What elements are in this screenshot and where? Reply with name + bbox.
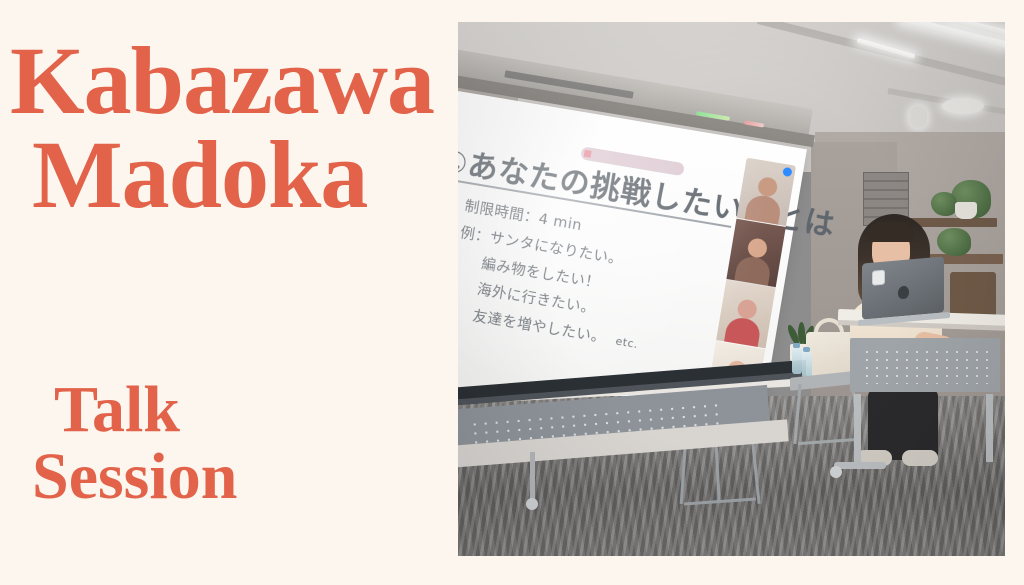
- participant-head: [757, 176, 779, 198]
- laptop-lid: [862, 256, 944, 319]
- conference-room-photo: ①あなたの挑戦したいことは 制限時間：4 min 例：サンタになりたい。 編み物…: [458, 22, 1005, 556]
- track-light-disc: [942, 98, 984, 114]
- water-bottle-2: [802, 352, 812, 378]
- foreground-desk-caster: [526, 498, 538, 510]
- presenter-bangs: [868, 222, 914, 242]
- session-subtitle-block: Talk Session: [10, 376, 450, 511]
- title-card: Kabazawa Madoka Talk Session: [0, 0, 1024, 585]
- presenter-desk-leg-right: [986, 394, 993, 462]
- presenter-shoe-right: [902, 450, 938, 466]
- mic-status-icon: [782, 167, 792, 177]
- presenter-desk-leg-left: [854, 394, 861, 466]
- presenter-desk-perforation: [862, 348, 988, 384]
- foreground-desk-leg: [530, 452, 535, 502]
- water-bottle-1: [792, 348, 802, 374]
- water-bottle-cap-2: [803, 347, 810, 352]
- video-participant-tile-2: [726, 219, 786, 288]
- slide-badge-icon: [584, 150, 592, 158]
- speaker-name-line2: Madoka: [10, 128, 450, 222]
- apple-logo-icon: [898, 285, 909, 299]
- video-participant-tile-1: [736, 158, 796, 227]
- presenter-desk-caster: [830, 466, 842, 478]
- plant-pot: [955, 202, 977, 219]
- speaker-name-line1: Kabazawa: [10, 34, 450, 128]
- speaker-name-block: Kabazawa Madoka: [10, 34, 450, 222]
- slide-body-line-5-suffix: etc.: [605, 333, 639, 351]
- shelf-plant-3: [937, 228, 971, 256]
- track-light-spot: [910, 106, 927, 128]
- video-participant-tile-3: [716, 280, 776, 349]
- laptop-sticker: [872, 270, 885, 286]
- participant-head: [736, 298, 758, 320]
- participant-head: [746, 237, 768, 259]
- subtitle-line2: Session: [10, 443, 450, 510]
- shelf-plant-2: [931, 192, 957, 216]
- presenter-desk-panel: [850, 338, 1000, 392]
- slide-body: 制限時間：4 min 例：サンタになりたい。 編み物をしたい！ 海外に行きたい。…: [458, 194, 658, 358]
- presenter-desk-foot: [834, 462, 886, 469]
- subtitle-line1: Talk: [10, 376, 450, 443]
- water-bottle-cap-1: [793, 343, 800, 348]
